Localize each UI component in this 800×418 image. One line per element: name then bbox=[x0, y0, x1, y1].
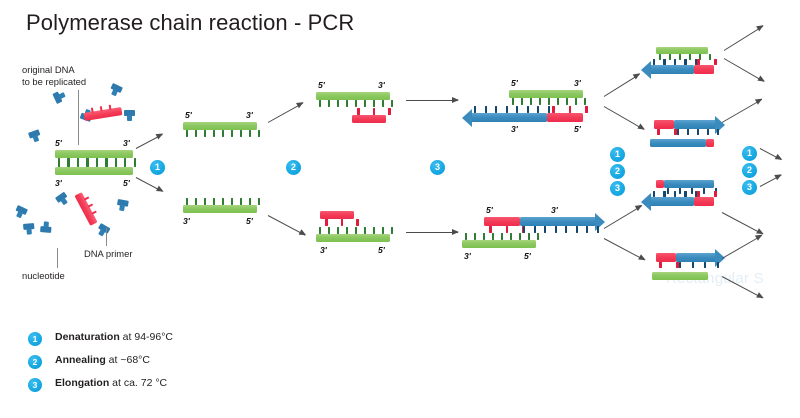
flow-arrow bbox=[604, 238, 645, 260]
new-strand-arrow-top bbox=[471, 113, 547, 122]
legend-label-denaturation: Denaturation bbox=[55, 331, 120, 343]
flow-arrow bbox=[406, 232, 458, 233]
original-dna-top-strand bbox=[55, 150, 133, 158]
template-strand-with-primer-top bbox=[316, 92, 390, 100]
cycle-badge-right-3: 3 bbox=[742, 180, 757, 195]
end-label-5prime: 5' bbox=[246, 216, 253, 226]
legend-label-annealing: Annealing bbox=[55, 354, 106, 366]
flow-arrow bbox=[724, 58, 764, 82]
end-label-5prime: 5' bbox=[486, 205, 493, 215]
single-strand-bottom bbox=[183, 205, 257, 213]
product4-pink-segment bbox=[656, 253, 676, 262]
product4-green-strand bbox=[652, 272, 708, 280]
end-label-5prime: 5' bbox=[185, 110, 192, 120]
flow-arrow bbox=[268, 215, 306, 236]
end-label-3prime: 3' bbox=[551, 205, 558, 215]
original-dna-bottom-strand bbox=[55, 167, 133, 175]
annealed-primer-lower bbox=[320, 211, 354, 219]
product1-pink-segment bbox=[694, 65, 714, 74]
template-strand-bottom bbox=[462, 240, 536, 248]
legend-detail-denaturation: at 94-96°C bbox=[120, 331, 173, 343]
product2-blue-strand bbox=[650, 139, 706, 147]
flow-arrow bbox=[760, 148, 782, 160]
end-label-3prime: 3' bbox=[464, 251, 471, 261]
single-strand-top bbox=[183, 122, 257, 130]
step-badge-elongation: 3 bbox=[430, 160, 445, 175]
legend-detail-annealing: at ~68°C bbox=[106, 354, 150, 366]
cycle-badge-2: 2 bbox=[610, 164, 625, 179]
legend-detail-elongation: at ca. 72 °C bbox=[109, 377, 167, 389]
annotation-nucleotide: nucleotide bbox=[22, 270, 65, 282]
product2-blue-arrow bbox=[674, 120, 716, 129]
end-label-3prime: 3' bbox=[511, 124, 518, 134]
leader-dna-primer bbox=[106, 228, 107, 246]
end-label-5prime: 5' bbox=[55, 138, 62, 148]
cycle-badge-right-2: 2 bbox=[742, 163, 757, 178]
product3-pink-end bbox=[656, 180, 664, 188]
flow-arrow bbox=[136, 177, 163, 192]
cycle-badge-right-1: 1 bbox=[742, 146, 757, 161]
end-label-3prime: 3' bbox=[574, 78, 581, 88]
dna-primer-icon bbox=[74, 192, 97, 226]
end-label-5prime: 5' bbox=[378, 245, 385, 255]
cycle-badge-1: 1 bbox=[610, 147, 625, 162]
flow-arrow bbox=[760, 175, 782, 187]
pcr-diagram: Polymerase chain reaction - PCR Rectangu… bbox=[0, 0, 800, 418]
annotation-original-dna-line2: to be replicated bbox=[22, 76, 86, 88]
end-label-3prime: 3' bbox=[55, 178, 62, 188]
end-label-5prime: 5' bbox=[574, 124, 581, 134]
flow-arrow bbox=[604, 106, 644, 130]
new-strand-arrow-bottom bbox=[520, 217, 596, 226]
product2-pink-end bbox=[706, 139, 714, 147]
annealed-primer-top bbox=[352, 115, 386, 123]
step-badge-annealing: 2 bbox=[286, 160, 301, 175]
step-badge-denaturation: 1 bbox=[150, 160, 165, 175]
annotation-original-dna-line1: original DNA bbox=[22, 64, 75, 76]
flow-arrow bbox=[604, 74, 640, 97]
primer-segment-bottom bbox=[484, 217, 520, 226]
product3-blue-strand bbox=[664, 180, 714, 188]
end-label-3prime: 3' bbox=[246, 110, 253, 120]
end-label-3prime: 3' bbox=[320, 245, 327, 255]
flow-arrow bbox=[722, 212, 763, 234]
flow-arrow bbox=[406, 100, 458, 101]
end-label-5prime: 5' bbox=[511, 78, 518, 88]
product3-blue-arrow bbox=[650, 197, 694, 206]
flow-arrow bbox=[722, 235, 762, 259]
flow-arrow bbox=[724, 26, 764, 51]
end-label-5prime: 5' bbox=[123, 178, 130, 188]
product3-pink-segment bbox=[694, 197, 714, 206]
cycle-badge-3: 3 bbox=[610, 181, 625, 196]
end-label-3prime: 3' bbox=[378, 80, 385, 90]
flow-arrow bbox=[268, 103, 303, 123]
product1-green-strand bbox=[656, 47, 708, 54]
template-strand-top bbox=[509, 90, 583, 98]
leader-nucleotide bbox=[57, 248, 58, 268]
product1-blue-arrow bbox=[650, 65, 694, 74]
product4-blue-arrow bbox=[676, 253, 716, 262]
legend-label-elongation: Elongation bbox=[55, 377, 109, 389]
legend-badge-2: 2 bbox=[28, 355, 42, 369]
flow-arrow bbox=[722, 99, 762, 123]
flow-arrow bbox=[604, 205, 642, 229]
end-label-5prime: 5' bbox=[524, 251, 531, 261]
template-strand-with-primer-bottom bbox=[316, 234, 390, 242]
primer-segment-top bbox=[547, 113, 583, 122]
flow-arrow bbox=[136, 134, 163, 149]
end-label-5prime: 5' bbox=[318, 80, 325, 90]
end-label-3prime: 3' bbox=[183, 216, 190, 226]
page-title: Polymerase chain reaction - PCR bbox=[26, 10, 354, 36]
annotation-dna-primer: DNA primer bbox=[84, 248, 132, 260]
product2-pink-segment bbox=[654, 120, 674, 129]
legend-badge-3: 3 bbox=[28, 378, 42, 392]
legend-badge-1: 1 bbox=[28, 332, 42, 346]
end-label-3prime: 3' bbox=[123, 138, 130, 148]
